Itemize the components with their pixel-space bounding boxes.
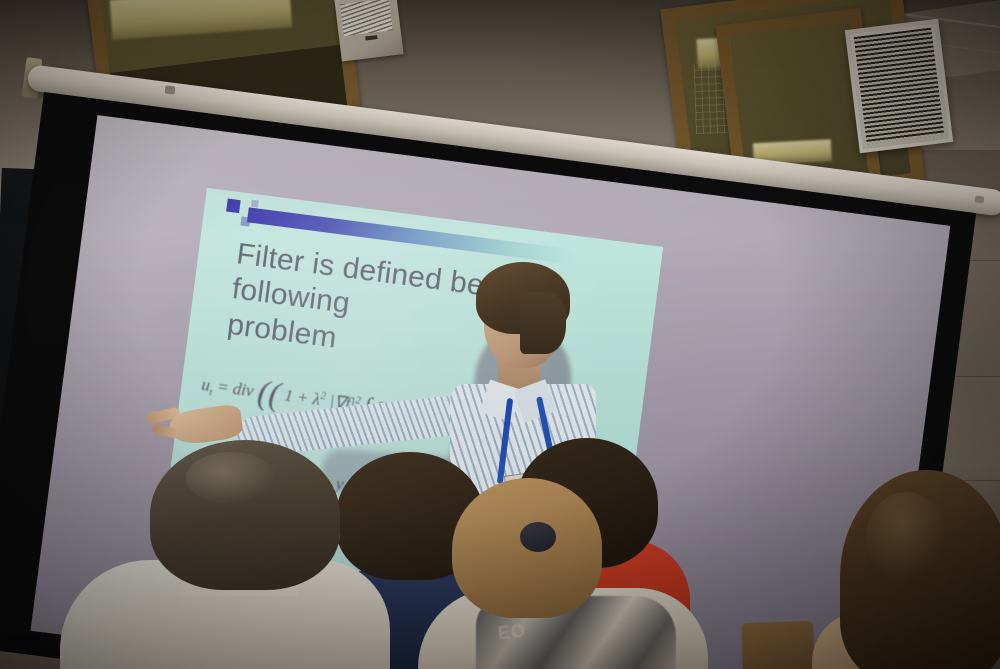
slide-decor-square — [226, 199, 241, 214]
eq1-one: 1 + — [283, 386, 309, 408]
hair-tie — [520, 522, 556, 552]
window-light-glow — [110, 0, 292, 40]
lecture-photo: Filter is defined be the following probl… — [0, 0, 1000, 669]
hair-highlight — [866, 492, 946, 582]
ventilation-grille — [845, 19, 953, 154]
chair — [741, 621, 815, 669]
vent-louvers — [854, 28, 945, 145]
slide-decor-square — [251, 200, 259, 208]
presenter-hair-side — [520, 292, 566, 354]
wall-mounted-speaker — [334, 0, 403, 62]
hair-highlight — [186, 452, 276, 504]
eq1-lhs-sub: t — [208, 386, 213, 398]
eq1-operator: = div — [216, 377, 255, 401]
speaker-grille — [340, 0, 393, 36]
screen-roller-knob — [975, 195, 985, 203]
screen-roller-knob — [165, 85, 176, 94]
eq1-lambda-exponent: 2 — [320, 390, 327, 403]
speaker-label — [365, 35, 377, 40]
graphic-tee-text: EO — [497, 621, 527, 645]
eq1-bracket-open: (( — [255, 374, 282, 414]
